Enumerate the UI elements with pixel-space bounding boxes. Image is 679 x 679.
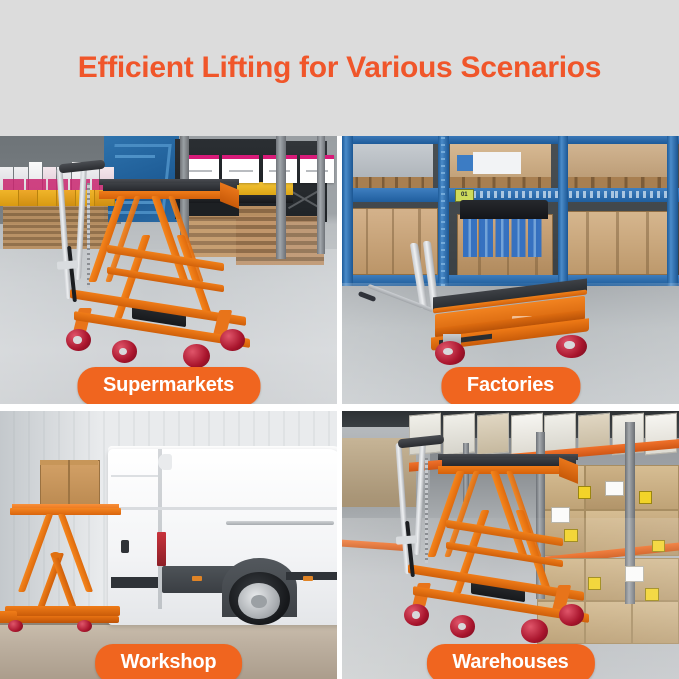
cardboard-carton (40, 460, 100, 508)
carton-yellow-label (639, 491, 652, 504)
scenario-cell-warehouses[interactable]: Warehouses (342, 411, 679, 679)
scenario-badge-factories[interactable]: Factories (441, 367, 580, 404)
rack-post-perforations (441, 136, 445, 286)
caster-wheel (220, 329, 245, 352)
lift-deck (10, 508, 121, 515)
caster-hub (564, 341, 574, 349)
scenario-badge-label: Warehouses (452, 651, 568, 674)
scenario-cell-workshop[interactable]: Workshop (0, 411, 337, 679)
wooden-crate (564, 211, 667, 275)
van-mirror (158, 454, 171, 470)
header-banner: Efficient Lifting for Various Scenarios (0, 0, 679, 136)
carton-seam (68, 460, 70, 506)
van-panel-seam (111, 507, 337, 509)
van-wheel-hub (251, 595, 267, 608)
lift-base-frame (5, 606, 121, 616)
safety-chain (425, 458, 428, 563)
scissor-lift-table (10, 486, 121, 625)
scenario-grid: Supermarkets 01 (0, 136, 679, 679)
caster-wheel (183, 344, 210, 368)
rack-upright-post (276, 136, 286, 259)
rack-upright-post (342, 136, 353, 286)
rack-upright-post (558, 136, 569, 286)
scissor-lift-table (396, 454, 605, 642)
scenario-badge-warehouses[interactable]: Warehouses (426, 644, 594, 679)
scenario-badge-workshop[interactable]: Workshop (95, 644, 243, 679)
van-taillight (157, 532, 166, 567)
scenario-badge-label: Workshop (121, 651, 217, 674)
page-title: Efficient Lifting for Various Scenarios (78, 53, 601, 83)
scenario-cell-supermarkets[interactable]: Supermarkets (0, 136, 337, 404)
caster-hub (73, 336, 81, 344)
van-side-rail (226, 521, 334, 525)
van-door-handle (121, 540, 128, 553)
rack-upright-post (667, 136, 678, 286)
rack-upright-post (317, 136, 325, 254)
white-carton (473, 152, 520, 173)
scenario-badge-label: Factories (467, 374, 554, 397)
rack-beam-top (342, 136, 679, 144)
scenario-cell-factories[interactable]: 01 (342, 136, 679, 404)
upper-crate (561, 141, 672, 189)
lift-base-frame (10, 616, 119, 623)
caster-wheel (559, 604, 584, 627)
upper-crate (345, 141, 433, 189)
carton-white-label (605, 481, 624, 496)
blue-wrapped-goods (463, 219, 544, 257)
infographic-page: Efficient Lifting for Various Scenarios (0, 0, 679, 679)
rack-perforation-strip (615, 191, 672, 198)
scissor-cross-member (107, 245, 224, 271)
rack-perforation-strip (473, 191, 547, 198)
scissor-cross-member (446, 520, 563, 546)
caster-hub (412, 611, 420, 619)
scenario-badge-label: Supermarkets (103, 374, 234, 397)
van-side-marker-light (303, 576, 313, 581)
caster-wheel (521, 619, 548, 643)
van-side-marker-light (192, 576, 202, 581)
safety-chain (87, 183, 90, 288)
van-panel-seam (111, 475, 158, 477)
scissor-lift-table (57, 179, 266, 367)
black-pallet-wrap (460, 200, 548, 219)
scenario-badge-supermarkets[interactable]: Supermarkets (77, 367, 260, 404)
